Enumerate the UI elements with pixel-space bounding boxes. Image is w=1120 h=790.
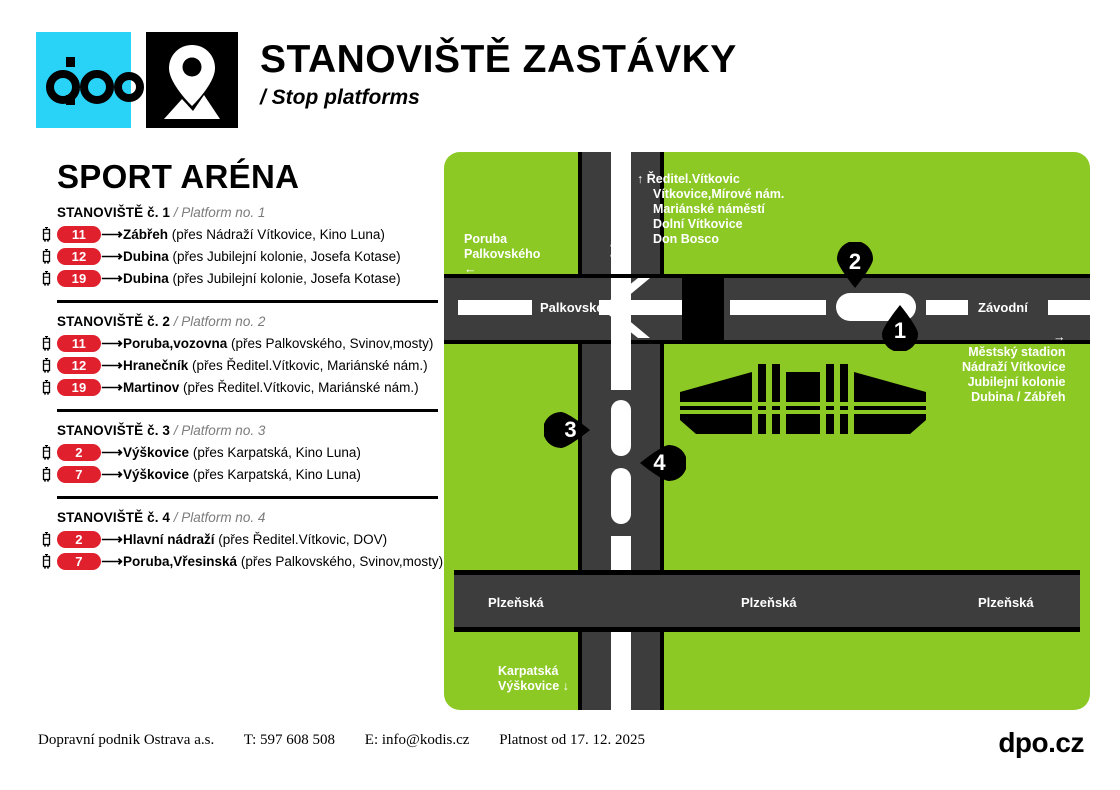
tram-icon-wrap <box>38 554 54 569</box>
stop-name: SPORT ARÉNA <box>57 158 299 196</box>
south-track-seg-0 <box>611 344 631 390</box>
direction-east-arrow: → <box>1053 330 1066 344</box>
direction-north-l4: Don Bosco <box>653 232 719 246</box>
platform-heading-en: / Platform no. 2 <box>174 314 266 329</box>
platform-section-2: STANOVIŠTĚ č. 2 / Platform no. 211⟶Porub… <box>38 314 438 398</box>
platform-section-4: STANOVIŠTĚ č. 4 / Platform no. 42⟶Hlavní… <box>38 510 438 572</box>
platform-heading-en: / Platform no. 3 <box>174 423 266 438</box>
footer-email: E: info@kodis.cz <box>365 732 470 748</box>
tram-icon <box>41 532 52 547</box>
tram-icon <box>41 227 52 242</box>
direction-south-l1: Výškovice <box>498 679 559 693</box>
road-label-plzenska-2: Plzeňská <box>741 595 797 610</box>
route-destination: Výškovice (přes Karpatská, Kino Luna) <box>123 467 361 482</box>
zavodni-track-b <box>926 300 968 315</box>
direction-north-l0: Ředitel.Vítkovic <box>647 172 740 186</box>
footer-phone: T: 597 608 508 <box>244 732 335 748</box>
direction-north-l2: Mariánské náměstí <box>653 202 765 216</box>
route-line-badge[interactable]: 12 <box>57 248 101 265</box>
tram-icon <box>41 249 52 264</box>
route-line-badge[interactable]: 12 <box>57 357 101 374</box>
route-line-badge[interactable]: 2 <box>57 531 101 548</box>
tram-icon <box>41 358 52 373</box>
road-label-plzenska-1: Plzeňská <box>488 595 544 610</box>
logo-ring-3 <box>114 72 144 102</box>
logo-ring-2 <box>80 70 114 104</box>
karpatska-track <box>611 632 631 710</box>
platform-divider <box>57 409 438 412</box>
tram-icon-wrap <box>38 358 54 373</box>
map-pin-logo <box>146 32 238 128</box>
south-track-seg-3 <box>611 536 631 570</box>
direction-north: ↑ Ředitel.Vítkovic Vítkovice,Mírové nám.… <box>637 172 784 247</box>
platform-heading-cz: STANOVIŠTĚ č. 1 <box>57 205 170 220</box>
route-destination: Dubina (přes Jubilejní kolonie, Josefa K… <box>123 271 401 286</box>
route-line-badge[interactable]: 7 <box>57 466 101 483</box>
tram-icon <box>41 445 52 460</box>
road-label-zavodni: Závodní <box>978 300 1028 315</box>
route-destination: Hlavní nádraží (přes Ředitel.Vítkovic, D… <box>123 532 387 547</box>
logo-dot-bottom <box>66 95 75 105</box>
platform-3-island <box>611 400 631 456</box>
platform-section-3: STANOVIŠTĚ č. 3 / Platform no. 32⟶Výškov… <box>38 423 438 485</box>
tram-icon-wrap <box>38 249 54 264</box>
platform-heading: STANOVIŠTĚ č. 3 / Platform no. 3 <box>38 423 438 438</box>
route-row[interactable]: 19⟶Martinov (přes Ředitel.Vítkovic, Mari… <box>38 376 438 398</box>
arrow-right-icon: ⟶ <box>101 334 123 352</box>
arrow-right-icon: ⟶ <box>101 247 123 265</box>
title-block: STANOVIŠTĚ ZASTÁVKY / Stop platforms <box>260 32 737 110</box>
platform-heading-cz: STANOVIŠTĚ č. 2 <box>57 314 170 329</box>
route-row[interactable]: 19⟶Dubina (přes Jubilejní kolonie, Josef… <box>38 267 438 289</box>
tram-icon <box>41 380 52 395</box>
direction-east-l3: Dubina / Zábřeh <box>971 390 1065 404</box>
route-row[interactable]: 7⟶Poruba,Vřesinská (přes Palkovského, Sv… <box>38 550 438 572</box>
route-destination: Martinov (přes Ředitel.Vítkovic, Mariáns… <box>123 380 419 395</box>
route-destination: Zábřeh (přes Nádraží Vítkovice, Kino Lun… <box>123 227 385 242</box>
route-line-badge[interactable]: 19 <box>57 270 101 287</box>
dpo-logo <box>36 32 131 128</box>
arrow-right-icon: ⟶ <box>101 378 123 396</box>
map-panel: Ruská Palkovského Závodní Plzeňská <box>444 152 1090 710</box>
route-line-badge[interactable]: 2 <box>57 444 101 461</box>
direction-south-arrow: ↓ <box>563 679 569 693</box>
route-line-badge[interactable]: 7 <box>57 553 101 570</box>
route-line-badge[interactable]: 11 <box>57 226 101 243</box>
arrow-right-icon: ⟶ <box>101 465 123 483</box>
tram-icon <box>41 271 52 286</box>
direction-east-l0: Městský stadion <box>968 345 1065 359</box>
tram-icon-wrap <box>38 467 54 482</box>
palkovskeho-track-west <box>458 300 532 315</box>
page-subtitle: / Stop platforms <box>260 86 737 110</box>
platform-list: STANOVIŠTĚ č. 1 / Platform no. 111⟶Zábře… <box>38 205 438 574</box>
route-row[interactable]: 2⟶Hlavní nádraží (přes Ředitel.Vítkovic,… <box>38 528 438 550</box>
route-destination: Poruba,vozovna (přes Palkovského, Svinov… <box>123 336 433 351</box>
route-destination: Dubina (přes Jubilejní kolonie, Josefa K… <box>123 249 401 264</box>
platform-heading: STANOVIŠTĚ č. 4 / Platform no. 4 <box>38 510 438 525</box>
tram-icon-wrap <box>38 271 54 286</box>
map-marker-3[interactable]: 3 <box>544 407 590 453</box>
zavodni-track-c <box>1048 300 1090 315</box>
direction-west-l1: Palkovského <box>464 247 540 261</box>
route-row[interactable]: 7⟶Výškovice (přes Karpatská, Kino Luna) <box>38 463 438 485</box>
map-marker-4[interactable]: 4 <box>640 440 686 486</box>
platform-heading: STANOVIŠTĚ č. 1 / Platform no. 1 <box>38 205 438 220</box>
platform-heading-en: / Platform no. 4 <box>174 510 266 525</box>
map-marker-1[interactable]: 1 <box>877 305 923 351</box>
arrow-right-icon: ⟶ <box>101 225 123 243</box>
route-destination: Hranečník (přes Ředitel.Vítkovic, Marián… <box>123 358 428 373</box>
platform-heading-cz: STANOVIŠTĚ č. 3 <box>57 423 170 438</box>
direction-south-l0: Karpatská <box>498 664 558 678</box>
direction-east-l1: Nádraží Vítkovice <box>962 360 1066 374</box>
route-row[interactable]: 11⟶Poruba,vozovna (přes Palkovského, Svi… <box>38 332 438 354</box>
arrow-right-icon: ⟶ <box>101 356 123 374</box>
route-destination: Výškovice (přes Karpatská, Kino Luna) <box>123 445 361 460</box>
route-row[interactable]: 11⟶Zábřeh (přes Nádraží Vítkovice, Kino … <box>38 223 438 245</box>
route-row[interactable]: 12⟶Hranečník (přes Ředitel.Vítkovic, Mar… <box>38 354 438 376</box>
arrow-right-icon: ⟶ <box>101 552 123 570</box>
platform-divider <box>57 496 438 499</box>
direction-east-l2: Jubilejní kolonie <box>968 375 1066 389</box>
tram-icon-wrap <box>38 227 54 242</box>
direction-west: Poruba Palkovského ← <box>464 232 540 277</box>
direction-south: Karpatská Výškovice ↓ <box>498 664 569 694</box>
tram-icon <box>41 554 52 569</box>
route-line-badge[interactable]: 11 <box>57 335 101 352</box>
route-destination: Poruba,Vřesinská (přes Palkovského, Svin… <box>123 554 443 569</box>
road-label-plzenska-3: Plzeňská <box>978 595 1034 610</box>
zavodni-track-a <box>730 300 826 315</box>
arrow-right-icon: ⟶ <box>101 530 123 548</box>
footer-website[interactable]: dpo.cz <box>998 727 1084 759</box>
road-block-marker <box>682 274 724 344</box>
footer-company: Dopravní podnik Ostrava a.s. <box>38 732 214 748</box>
footer: Dopravní podnik Ostrava a.s. T: 597 608 … <box>38 732 671 749</box>
footer-validity: Platnost od 17. 12. 2025 <box>499 732 645 748</box>
platform-section-1: STANOVIŠTĚ č. 1 / Platform no. 111⟶Zábře… <box>38 205 438 289</box>
platform-heading-en: / Platform no. 1 <box>174 205 266 220</box>
tram-icon <box>41 467 52 482</box>
map-marker-3-label: 3 <box>544 407 590 453</box>
direction-west-arrow: ← <box>464 262 477 276</box>
map-marker-1-label: 1 <box>877 305 923 351</box>
arrow-right-icon: ⟶ <box>101 269 123 287</box>
logo-dot-top <box>66 57 75 67</box>
location-pin-icon <box>160 45 224 119</box>
platform-heading-cz: STANOVIŠTĚ č. 4 <box>57 510 170 525</box>
direction-east: → Městský stadion Nádraží Vítkovice Jubi… <box>962 330 1066 405</box>
map-marker-4-label: 4 <box>640 440 686 486</box>
poster: STANOVIŠTĚ ZASTÁVKY / Stop platforms SPO… <box>0 0 1120 790</box>
platform-divider <box>57 300 438 303</box>
tram-icon-wrap <box>38 532 54 547</box>
direction-north-arrow: ↑ <box>637 172 643 186</box>
direction-north-l3: Dolní Vítkovice <box>653 217 743 231</box>
route-row[interactable]: 2⟶Výškovice (přes Karpatská, Kino Luna) <box>38 441 438 463</box>
direction-north-l1: Vítkovice,Mírové nám. <box>653 187 784 201</box>
arrow-right-icon: ⟶ <box>101 443 123 461</box>
map-marker-2-label: 2 <box>832 242 878 288</box>
tram-icon-wrap <box>38 380 54 395</box>
arena-building-icon <box>680 364 926 442</box>
header: STANOVIŠTĚ ZASTÁVKY / Stop platforms <box>36 32 737 128</box>
tram-icon <box>41 336 52 351</box>
tram-icon-wrap <box>38 336 54 351</box>
platform-heading: STANOVIŠTĚ č. 2 / Platform no. 2 <box>38 314 438 329</box>
route-line-badge[interactable]: 19 <box>57 379 101 396</box>
platform-4-island <box>611 468 631 524</box>
direction-west-l0: Poruba <box>464 232 507 246</box>
map-marker-2[interactable]: 2 <box>832 242 878 288</box>
route-row[interactable]: 12⟶Dubina (přes Jubilejní kolonie, Josef… <box>38 245 438 267</box>
page-title: STANOVIŠTĚ ZASTÁVKY <box>260 40 737 79</box>
tram-icon-wrap <box>38 445 54 460</box>
